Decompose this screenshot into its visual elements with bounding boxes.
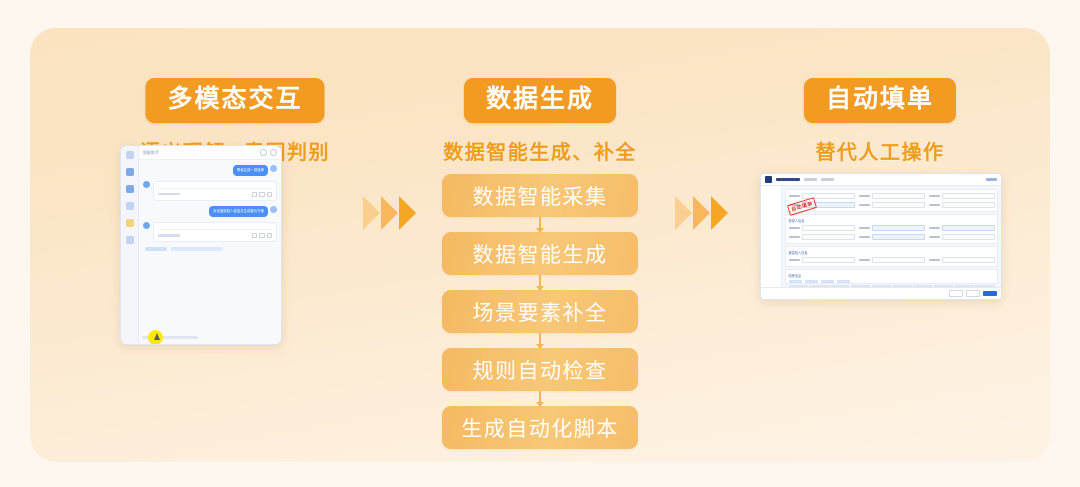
table-column-header xyxy=(851,285,870,288)
user-bubble-text: 补充被保险人信息并生成报价方案 xyxy=(209,206,268,217)
flow-connector-arrow-icon xyxy=(539,217,541,232)
assistant-card-action-label[interactable] xyxy=(158,193,180,195)
app-logo-icon xyxy=(765,176,772,183)
field-label xyxy=(859,195,870,197)
assistant-response-card xyxy=(153,222,277,242)
table-column-header xyxy=(872,285,891,288)
stage-subtitle-data-generation: 数据智能生成、补全 xyxy=(443,136,637,165)
field-label xyxy=(859,236,870,238)
thumbs-up-icon[interactable] xyxy=(259,233,265,239)
app-title xyxy=(776,178,800,181)
stage-badge-data-generation: 数据生成 xyxy=(464,78,616,123)
chat-message-assistant xyxy=(143,222,277,242)
minimize-icon[interactable] xyxy=(260,149,267,156)
chat-message-user: 帮我生成一张保单 xyxy=(233,165,277,176)
form-input[interactable] xyxy=(802,225,855,232)
diagram-panel: 多模态交互 语义理解意图判别 智能助手 帮我生成一张保单 xyxy=(30,28,1050,462)
double-chevron-right-icon xyxy=(711,196,728,230)
menu-icon[interactable] xyxy=(126,151,134,159)
copy-icon[interactable] xyxy=(252,233,258,239)
chat-body: 智能助手 帮我生成一张保单 xyxy=(139,146,281,344)
table-column-header xyxy=(934,285,953,288)
table-column-header xyxy=(975,285,994,288)
table-column-header xyxy=(892,285,911,288)
stage-subtitle-auto-form: 替代人工操作 xyxy=(816,136,945,165)
policy-items-table: 险种信息 xyxy=(785,269,998,284)
form-input[interactable] xyxy=(872,193,925,200)
field-label xyxy=(789,236,800,238)
assistant-card-footer xyxy=(158,188,272,197)
chat-message-list: 帮我生成一张保单 xyxy=(139,160,281,334)
section-title: 投保人信息 xyxy=(789,218,995,223)
stage-data-generation: 数据生成 数据智能生成、补全 数据智能采集 数据智能生成 场景要素补全 规则自动… xyxy=(395,28,685,462)
header-user-menu[interactable] xyxy=(986,178,997,180)
thumbs-down-icon[interactable] xyxy=(267,233,273,239)
submit-button[interactable] xyxy=(983,291,997,296)
cancel-button[interactable] xyxy=(949,290,963,297)
tools-icon[interactable] xyxy=(126,202,134,210)
double-chevron-right-icon xyxy=(675,196,692,230)
double-chevron-right-icon xyxy=(363,196,380,230)
chat-icon-rail xyxy=(121,146,139,344)
settings-icon[interactable] xyxy=(126,236,134,244)
thumbs-down-icon[interactable] xyxy=(267,192,273,198)
flow-step-list: 数据智能采集 数据智能生成 场景要素补全 规则自动检查 生成自动化脚本 xyxy=(442,174,638,449)
form-content: 自动填单 投保人信息 xyxy=(782,186,1001,287)
chat-input-row[interactable] xyxy=(139,334,281,344)
form-input[interactable] xyxy=(942,193,995,200)
table-column-header xyxy=(955,285,974,288)
suggestion-chip-script[interactable] xyxy=(171,247,223,251)
assistant-card-action-label[interactable] xyxy=(158,234,180,236)
cursor-highlight-icon xyxy=(148,330,163,345)
stage-badge-auto-form: 自动填单 xyxy=(804,78,956,123)
flow-step-card[interactable]: 规则自动检查 xyxy=(442,348,638,391)
table-column-header xyxy=(830,285,849,288)
flow-connector-arrow-icon xyxy=(539,391,541,406)
field-label xyxy=(859,259,870,261)
form-input[interactable] xyxy=(942,225,995,232)
section-title: 险种信息 xyxy=(789,273,995,278)
header-tab[interactable] xyxy=(804,178,817,180)
table-column-header xyxy=(809,285,828,288)
chat-title: 智能助手 xyxy=(143,150,257,156)
avatar xyxy=(143,222,150,229)
field-label xyxy=(929,204,940,206)
flow-connector-arrow-icon xyxy=(539,333,541,348)
flow-step-card[interactable]: 场景要素补全 xyxy=(442,290,638,333)
field-label xyxy=(929,195,940,197)
assistant-card-footer xyxy=(158,229,272,238)
table-action-button[interactable] xyxy=(821,280,834,283)
form-sidebar xyxy=(761,186,782,287)
form-input[interactable] xyxy=(942,202,995,209)
table-action-button[interactable] xyxy=(837,280,850,283)
form-section-policyholder: 投保人信息 xyxy=(785,214,998,244)
field-label xyxy=(929,236,940,238)
table-action-button[interactable] xyxy=(789,280,802,283)
flow-step-card[interactable]: 生成自动化脚本 xyxy=(442,406,638,449)
table-action-button[interactable] xyxy=(805,280,818,283)
avatar xyxy=(270,206,277,213)
chat-message-assistant xyxy=(143,181,277,201)
form-input[interactable] xyxy=(872,234,925,241)
section-title: 被保险人信息 xyxy=(789,250,995,255)
field-label xyxy=(789,195,800,197)
avatar xyxy=(270,165,277,172)
table-column-header xyxy=(913,285,932,288)
form-main: 自动填单 投保人信息 xyxy=(761,186,1001,287)
form-input[interactable] xyxy=(802,257,855,264)
thumbs-up-icon[interactable] xyxy=(259,192,265,198)
form-input[interactable] xyxy=(802,234,855,241)
user-bubble-text: 帮我生成一张保单 xyxy=(233,165,268,176)
chat-titlebar: 智能助手 xyxy=(139,146,281,160)
field-label xyxy=(929,227,940,229)
assistant-response-card xyxy=(153,181,277,201)
form-input[interactable] xyxy=(942,234,995,241)
form-input[interactable] xyxy=(872,202,925,209)
connector-stage-2-to-3 xyxy=(675,196,728,230)
avatar xyxy=(143,181,150,188)
form-section-insured: 被保险人信息 xyxy=(785,246,998,267)
field-label xyxy=(929,259,940,261)
save-draft-button[interactable] xyxy=(966,290,980,297)
table-toolbar xyxy=(789,280,995,283)
header-tab[interactable] xyxy=(821,178,834,180)
field-label xyxy=(789,227,800,229)
double-chevron-right-icon xyxy=(693,196,710,230)
form-app-header xyxy=(761,174,1001,186)
table-column-header xyxy=(789,285,808,288)
expand-icon[interactable] xyxy=(270,149,277,156)
table-header-row xyxy=(789,285,995,288)
chat-message-user: 补充被保险人信息并生成报价方案 xyxy=(209,206,277,217)
suggestion-chip-detail[interactable] xyxy=(145,247,167,251)
form-section-basic xyxy=(785,189,998,212)
form-footer xyxy=(761,287,1001,299)
field-label xyxy=(859,227,870,229)
history-icon[interactable] xyxy=(126,168,134,176)
chat-suggestion-chips xyxy=(143,247,277,251)
copy-icon[interactable] xyxy=(252,192,258,198)
form-input[interactable] xyxy=(872,257,925,264)
flow-connector-arrow-icon xyxy=(539,275,541,290)
form-input[interactable] xyxy=(942,257,995,264)
chat-assistant-screenshot[interactable]: 智能助手 帮我生成一张保单 xyxy=(120,145,282,345)
flow-step-card[interactable]: 数据智能采集 xyxy=(442,174,638,217)
star-icon[interactable] xyxy=(126,219,134,227)
field-label xyxy=(789,259,800,261)
chat-icon[interactable] xyxy=(126,185,134,193)
stage-badge-multimodal: 多模态交互 xyxy=(145,78,324,123)
form-input[interactable] xyxy=(872,225,925,232)
flow-step-card[interactable]: 数据智能生成 xyxy=(442,232,638,275)
policy-form-screenshot[interactable]: 自动填单 投保人信息 xyxy=(760,173,1002,300)
field-label xyxy=(859,204,870,206)
